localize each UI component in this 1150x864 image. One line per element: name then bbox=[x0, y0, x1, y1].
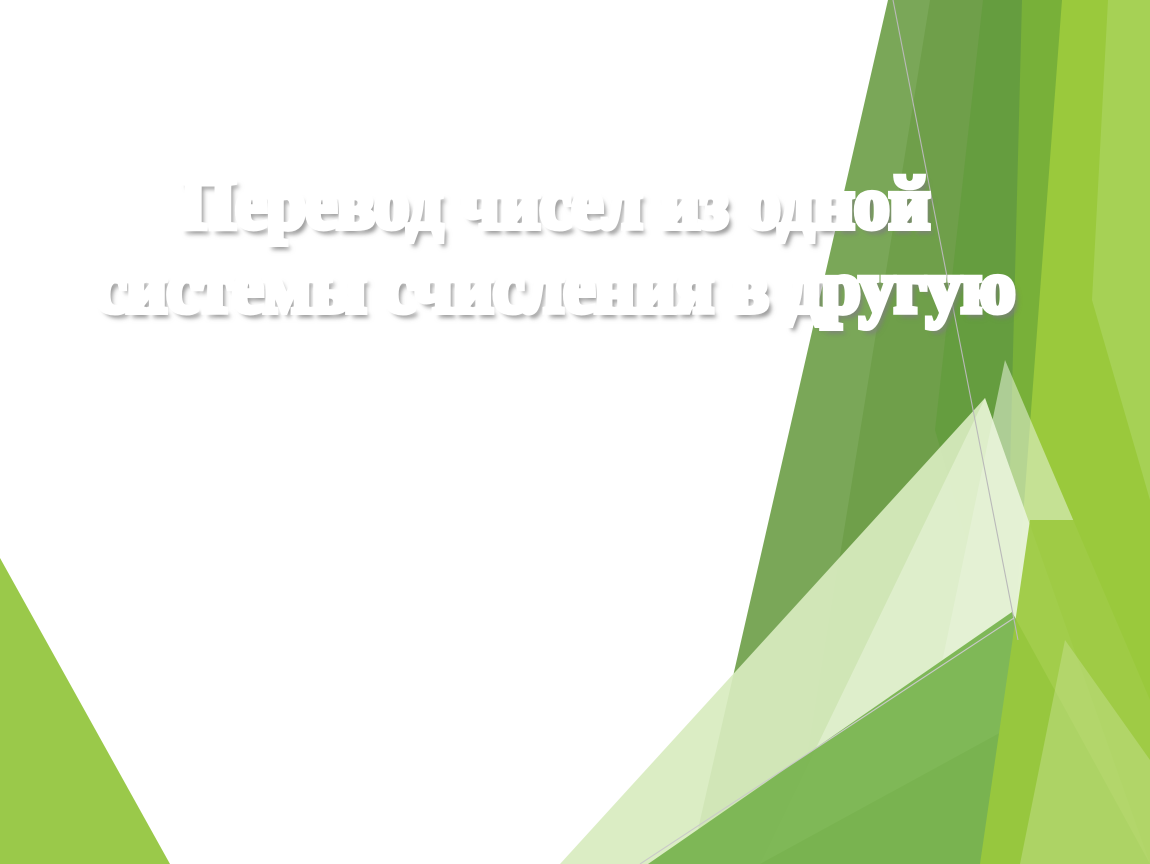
diagonal-hairline-lower bbox=[640, 618, 1014, 864]
bottom-right-lime-shape bbox=[980, 520, 1150, 864]
bottom-right-pale-overlay-shape bbox=[1020, 640, 1150, 864]
right-bright-lime-band-shape bbox=[1000, 0, 1150, 864]
background-decoration bbox=[0, 0, 1150, 864]
lower-right-mid-green-triangle-shape bbox=[648, 612, 1150, 864]
bottom-left-wedge-shape bbox=[0, 558, 170, 864]
slide-title: Перевод чисел из одной системы счисления… bbox=[0, 156, 1110, 336]
pale-fan-wedge-a-shape bbox=[560, 398, 1150, 864]
lower-right-mid-green-triangle-b-shape bbox=[760, 700, 1150, 864]
right-deep-green-wedge-shape bbox=[935, 0, 1062, 690]
pale-fan-wedge-c-shape bbox=[900, 360, 1150, 864]
title-line-2: системы счисления в другую bbox=[22, 240, 1088, 336]
title-line-1: Перевод чисел из одной bbox=[22, 156, 1088, 252]
title-slide: Перевод чисел из одной системы счисления… bbox=[0, 0, 1150, 864]
right-muted-green-band-shape bbox=[690, 0, 1150, 864]
pale-fan-wedge-b-shape bbox=[760, 398, 1150, 864]
right-olive-band-shape bbox=[790, 0, 1150, 864]
